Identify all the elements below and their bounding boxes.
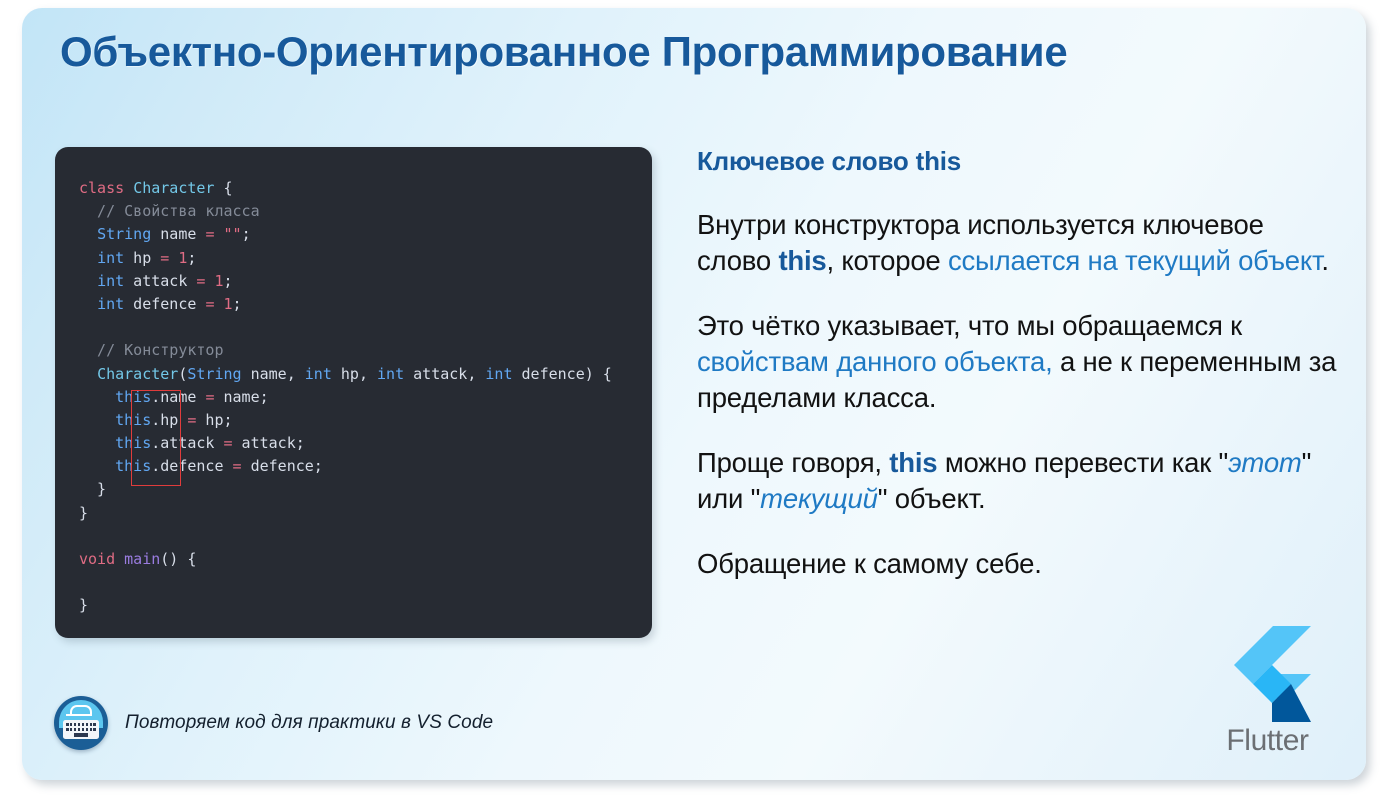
code-token: name [151, 225, 205, 243]
code-token: this [115, 388, 151, 406]
code-token: // Конструктор [79, 341, 224, 359]
text-run: Проще говоря, [697, 447, 889, 478]
code-line: String name = ""; [79, 223, 652, 246]
code-token: } [79, 596, 88, 614]
code-line: this.hp = hp; [79, 409, 652, 432]
code-token: defence; [242, 457, 323, 475]
code-token: int [305, 365, 332, 383]
code-token: 1 [214, 272, 223, 290]
code-block: class Character { // Свойства класса Str… [79, 177, 652, 618]
code-token: int [97, 272, 124, 290]
code-token: int [377, 365, 404, 383]
code-token: int [97, 295, 124, 313]
code-line: class Character { [79, 177, 652, 200]
code-line: } [79, 594, 652, 617]
paragraph: Обращение к самому себе. [697, 546, 1337, 582]
code-token [214, 225, 223, 243]
code-token: ; [242, 225, 251, 243]
code-line: } [79, 478, 652, 501]
code-token: hp; [196, 411, 232, 429]
code-line: } [79, 502, 652, 525]
code-token [79, 411, 115, 429]
code-token: Character [133, 179, 214, 197]
code-token [79, 249, 97, 267]
code-token: String [97, 225, 151, 243]
paragraph-list: Внутри конструктора используется ключево… [697, 207, 1337, 582]
text-run: , которое [827, 245, 948, 276]
code-token: { [214, 179, 232, 197]
code-token: = [224, 434, 233, 452]
flutter-logo-icon [1225, 626, 1311, 722]
code-token: 1 [224, 295, 233, 313]
text-run: " объект. [878, 483, 986, 514]
keyboard-icon-cord-tail [66, 714, 92, 716]
code-token: int [485, 365, 512, 383]
code-token: = [160, 249, 169, 267]
footer-caption: Повторяем код для практики в VS Code [125, 712, 493, 734]
code-line: int attack = 1; [79, 270, 652, 293]
code-token: int [97, 249, 124, 267]
code-line: // Свойства класса [79, 200, 652, 223]
text-run: Обращение к самому себе. [697, 548, 1042, 579]
code-token: ; [233, 295, 242, 313]
code-line [79, 525, 652, 548]
code-token: attack [124, 272, 196, 290]
code-token [115, 550, 124, 568]
code-token: = [233, 457, 242, 475]
code-token [214, 295, 223, 313]
keyboard-icon-board [63, 720, 99, 739]
code-token [169, 249, 178, 267]
keyboard-icon-row [65, 733, 97, 736]
paragraph: Это чётко указывает, что мы обращаемся к… [697, 308, 1337, 416]
flutter-wordmark: Flutter [1205, 724, 1330, 758]
code-token: .name [151, 388, 205, 406]
keyboard-icon [54, 696, 108, 750]
code-token: .attack [151, 434, 223, 452]
explanation-column: Ключевое слово this Внутри конструктора … [697, 146, 1337, 582]
emphasized-text-run: ссылается на текущий объект [948, 245, 1321, 276]
code-line: this.attack = attack; [79, 432, 652, 455]
code-token: } [79, 480, 106, 498]
footer: Повторяем код для практики в VS Code [54, 696, 493, 750]
code-token [79, 225, 97, 243]
paragraph: Проще говоря, this можно перевести как "… [697, 445, 1337, 517]
code-line: int hp = 1; [79, 247, 652, 270]
emphasized-text-run: this [889, 447, 937, 478]
code-token: attack; [233, 434, 305, 452]
code-token: String [187, 365, 241, 383]
code-token: name, [242, 365, 305, 383]
code-token: ; [224, 272, 233, 290]
code-token: main [124, 550, 160, 568]
code-line [79, 571, 652, 594]
code-token: .hp [151, 411, 187, 429]
emphasized-text-run: свойствам данного объекта, [697, 346, 1053, 377]
keyboard-icon-row [65, 728, 97, 731]
text-run: Это чётко указывает, что мы обращаемся к [697, 310, 1242, 341]
code-token: Character [97, 365, 178, 383]
code-token: defence) { [513, 365, 612, 383]
code-token [79, 388, 115, 406]
code-token [79, 365, 97, 383]
code-line: Character(String name, int hp, int attac… [79, 363, 652, 386]
slide-card: Объектно-Ориентированное Программировани… [22, 8, 1366, 780]
emphasized-text-run: this [778, 245, 826, 276]
code-token: hp, [332, 365, 377, 383]
page-title: Объектно-Ориентированное Программировани… [60, 28, 1067, 76]
code-token: hp [124, 249, 160, 267]
code-token: .defence [151, 457, 232, 475]
emphasized-text-run: текущий [760, 483, 878, 514]
section-heading: Ключевое слово this [697, 146, 1337, 177]
text-run: можно перевести как " [937, 447, 1228, 478]
code-token: () { [160, 550, 196, 568]
code-token [79, 434, 115, 452]
code-token: attack, [404, 365, 485, 383]
code-token: "" [224, 225, 242, 243]
code-token: class [79, 179, 133, 197]
code-token: this [115, 457, 151, 475]
paragraph: Внутри конструктора используется ключево… [697, 207, 1337, 279]
flutter-logo: Flutter [1205, 626, 1330, 758]
code-token: } [79, 504, 88, 522]
emphasized-text-run: этот [1228, 447, 1302, 478]
code-line [79, 316, 652, 339]
code-token [79, 457, 115, 475]
code-token: this [115, 434, 151, 452]
keyboard-icon-row [65, 723, 97, 726]
code-token [79, 272, 97, 290]
text-run: . [1321, 245, 1328, 276]
code-line: int defence = 1; [79, 293, 652, 316]
code-token: name; [214, 388, 268, 406]
code-token: this [115, 411, 151, 429]
code-token: void [79, 550, 115, 568]
code-line: this.name = name; [79, 386, 652, 409]
code-line: this.defence = defence; [79, 455, 652, 478]
code-token [79, 295, 97, 313]
code-panel: class Character { // Свойства класса Str… [55, 147, 652, 638]
code-line: void main() { [79, 548, 652, 571]
code-token: // Свойства класса [79, 202, 260, 220]
code-token: defence [124, 295, 205, 313]
code-token: ; [187, 249, 196, 267]
code-line: // Конструктор [79, 339, 652, 362]
